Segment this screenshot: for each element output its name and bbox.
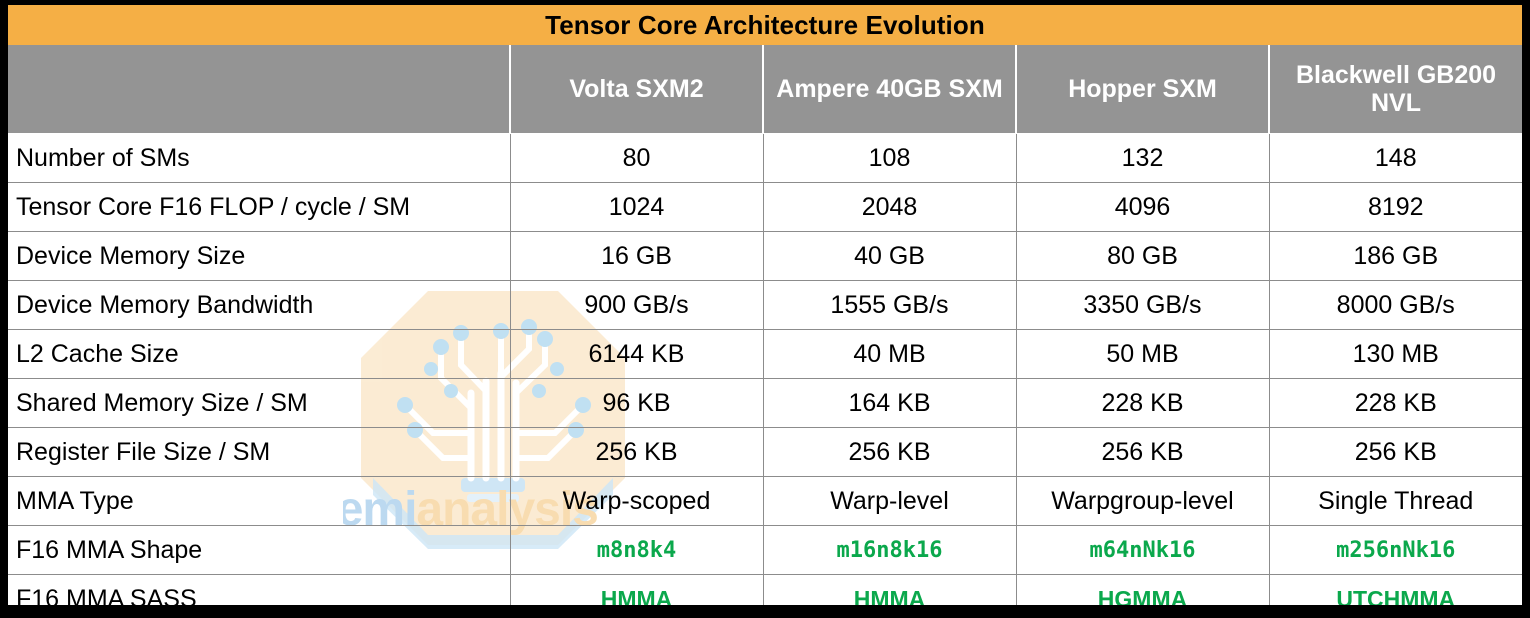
row-label: Register File Size / SM	[8, 428, 510, 477]
cell-value: 228 KB	[1269, 379, 1522, 428]
table-row: Device Memory Bandwidth 900 GB/s 1555 GB…	[8, 281, 1522, 330]
cell-value: Single Thread	[1269, 477, 1522, 526]
cell-value: 256 KB	[1016, 428, 1269, 477]
cell-value: 148	[1269, 134, 1522, 183]
cell-value: 40 MB	[763, 330, 1016, 379]
cell-value: 130 MB	[1269, 330, 1522, 379]
cell-value: Warp-scoped	[510, 477, 763, 526]
cell-value: 1555 GB/s	[763, 281, 1016, 330]
cell-value: 50 MB	[1016, 330, 1269, 379]
cell-value: 132	[1016, 134, 1269, 183]
cell-value: m64nNk16	[1016, 526, 1269, 575]
column-header-ampere: Ampere 40GB SXM	[763, 45, 1016, 134]
cell-value: 164 KB	[763, 379, 1016, 428]
column-header-hopper: Hopper SXM	[1016, 45, 1269, 134]
cell-value: 80	[510, 134, 763, 183]
screenshot-root: semianalysis Tensor Core Architecture Ev…	[0, 0, 1530, 618]
cell-value: 256 KB	[1269, 428, 1522, 477]
table-row: Tensor Core F16 FLOP / cycle / SM 1024 2…	[8, 183, 1522, 232]
cell-value: 6144 KB	[510, 330, 763, 379]
row-label: Tensor Core F16 FLOP / cycle / SM	[8, 183, 510, 232]
row-label: F16 MMA Shape	[8, 526, 510, 575]
cell-value: HMMA	[763, 575, 1016, 606]
column-header-rowlabel	[8, 45, 510, 134]
cell-value: 8192	[1269, 183, 1522, 232]
cell-value: 2048	[763, 183, 1016, 232]
cell-value: 4096	[1016, 183, 1269, 232]
table-row: F16 MMA SASS HMMA HMMA HGMMA UTCHMMA	[8, 575, 1522, 606]
cell-value: HGMMA	[1016, 575, 1269, 606]
table-row: Shared Memory Size / SM 96 KB 164 KB 228…	[8, 379, 1522, 428]
column-header-row: Volta SXM2 Ampere 40GB SXM Hopper SXM Bl…	[8, 45, 1522, 134]
cell-value: m256nNk16	[1269, 526, 1522, 575]
cell-value: Warp-level	[763, 477, 1016, 526]
row-label: Device Memory Size	[8, 232, 510, 281]
cell-value: HMMA	[510, 575, 763, 606]
table-row: L2 Cache Size 6144 KB 40 MB 50 MB 130 MB	[8, 330, 1522, 379]
cell-value: 228 KB	[1016, 379, 1269, 428]
cell-value: 186 GB	[1269, 232, 1522, 281]
table-row: Register File Size / SM 256 KB 256 KB 25…	[8, 428, 1522, 477]
tensor-core-spec-table: Tensor Core Architecture Evolution Volta…	[8, 5, 1522, 605]
cell-value: 256 KB	[763, 428, 1016, 477]
cell-value: Warpgroup-level	[1016, 477, 1269, 526]
cell-value: 80 GB	[1016, 232, 1269, 281]
cell-value: 900 GB/s	[510, 281, 763, 330]
table-row: F16 MMA Shape m8n8k4 m16n8k16 m64nNk16 m…	[8, 526, 1522, 575]
row-label: F16 MMA SASS	[8, 575, 510, 606]
cell-value: 108	[763, 134, 1016, 183]
table-title-row: Tensor Core Architecture Evolution	[8, 5, 1522, 45]
row-label: Shared Memory Size / SM	[8, 379, 510, 428]
row-label: MMA Type	[8, 477, 510, 526]
column-header-blackwell: Blackwell GB200 NVL	[1269, 45, 1522, 134]
cell-value: 256 KB	[510, 428, 763, 477]
cell-value: 40 GB	[763, 232, 1016, 281]
cell-value: m8n8k4	[510, 526, 763, 575]
row-label: L2 Cache Size	[8, 330, 510, 379]
table-frame: semianalysis Tensor Core Architecture Ev…	[8, 5, 1522, 605]
cell-value: UTCHMMA	[1269, 575, 1522, 606]
table-row: Number of SMs 80 108 132 148	[8, 134, 1522, 183]
cell-value: 1024	[510, 183, 763, 232]
cell-value: 3350 GB/s	[1016, 281, 1269, 330]
cell-value: 16 GB	[510, 232, 763, 281]
table-row: MMA Type Warp-scoped Warp-level Warpgrou…	[8, 477, 1522, 526]
cell-value: m16n8k16	[763, 526, 1016, 575]
cell-value: 8000 GB/s	[1269, 281, 1522, 330]
table-row: Device Memory Size 16 GB 40 GB 80 GB 186…	[8, 232, 1522, 281]
page-title: Tensor Core Architecture Evolution	[8, 5, 1522, 45]
row-label: Device Memory Bandwidth	[8, 281, 510, 330]
row-label: Number of SMs	[8, 134, 510, 183]
cell-value: 96 KB	[510, 379, 763, 428]
column-header-volta: Volta SXM2	[510, 45, 763, 134]
